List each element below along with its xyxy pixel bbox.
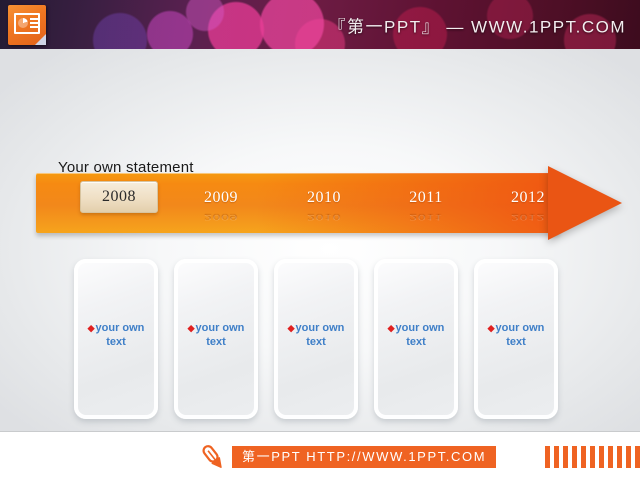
slide-body: Your own statement 2008 2009 2009 2010 2… bbox=[0, 49, 640, 431]
timeline-milestone-label: 2012 bbox=[511, 189, 545, 206]
card-line-2: text bbox=[406, 336, 426, 348]
timeline-milestone-2010[interactable]: 2010 2010 bbox=[289, 189, 359, 207]
card-line-2: text bbox=[506, 336, 526, 348]
timeline-milestone-2012[interactable]: 2012 2012 bbox=[493, 189, 563, 207]
timeline-milestone-2008[interactable]: 2008 bbox=[80, 181, 158, 213]
card-line-1: your own bbox=[396, 322, 445, 334]
powerpoint-icon-line-2 bbox=[30, 22, 38, 24]
powerpoint-icon-line-1 bbox=[30, 18, 38, 20]
content-card[interactable]: ◆your own text bbox=[274, 259, 358, 419]
content-card[interactable]: ◆your own text bbox=[374, 259, 458, 419]
timeline-milestone-reflection: 2012 bbox=[493, 212, 563, 222]
timeline-milestone-label: 2010 bbox=[307, 189, 341, 206]
timeline-milestone-label: 2011 bbox=[409, 189, 442, 206]
diamond-bullet-icon: ◆ bbox=[488, 323, 495, 333]
timeline-milestone-reflection: 2010 bbox=[289, 212, 359, 222]
powerpoint-icon-line-3 bbox=[30, 26, 38, 28]
footer-url-text: 第一PPT HTTP://WWW.1PPT.COM bbox=[232, 446, 496, 468]
card-line-2: text bbox=[106, 336, 126, 348]
card-line-1: your own bbox=[496, 322, 545, 334]
card-line-2: text bbox=[206, 336, 226, 348]
content-card[interactable]: ◆your own text bbox=[474, 259, 558, 419]
header-banner: 『第一PPT』 — WWW.1PPT.COM bbox=[0, 0, 640, 49]
content-card[interactable]: ◆your own text bbox=[174, 259, 258, 419]
diamond-bullet-icon: ◆ bbox=[288, 323, 295, 333]
diamond-bullet-icon: ◆ bbox=[388, 323, 395, 333]
card-text: ◆your own text bbox=[381, 321, 451, 349]
timeline-milestone-2009[interactable]: 2009 2009 bbox=[186, 189, 256, 207]
card-line-1: your own bbox=[296, 322, 345, 334]
powerpoint-icon-fold bbox=[35, 34, 46, 45]
timeline-arrow: 2008 2009 2009 2010 2010 2011 2011 2012 … bbox=[36, 173, 622, 239]
card-text: ◆your own text bbox=[181, 321, 251, 349]
timeline-milestone-reflection: 2011 bbox=[391, 212, 461, 222]
footer-stripes bbox=[545, 446, 640, 468]
slide-canvas: 『第一PPT』 — WWW.1PPT.COM Your own statemen… bbox=[0, 0, 640, 480]
pencil-icon bbox=[198, 442, 228, 472]
card-line-1: your own bbox=[196, 322, 245, 334]
card-line-1: your own bbox=[96, 322, 145, 334]
timeline-milestone-label: 2008 bbox=[102, 188, 136, 205]
card-text: ◆your own text bbox=[281, 321, 351, 349]
card-text: ◆your own text bbox=[481, 321, 551, 349]
timeline-milestone-2011[interactable]: 2011 2011 bbox=[391, 189, 461, 207]
diamond-bullet-icon: ◆ bbox=[88, 323, 95, 333]
card-text: ◆your own text bbox=[81, 321, 151, 349]
powerpoint-icon bbox=[8, 5, 46, 45]
header-title: 『第一PPT』 — WWW.1PPT.COM bbox=[329, 12, 626, 37]
diamond-bullet-icon: ◆ bbox=[188, 323, 195, 333]
card-line-2: text bbox=[306, 336, 326, 348]
timeline-milestone-label: 2009 bbox=[204, 189, 238, 206]
powerpoint-icon-pie bbox=[18, 18, 28, 28]
timeline-milestone-reflection: 2009 bbox=[186, 212, 256, 222]
content-card[interactable]: ◆your own text bbox=[74, 259, 158, 419]
